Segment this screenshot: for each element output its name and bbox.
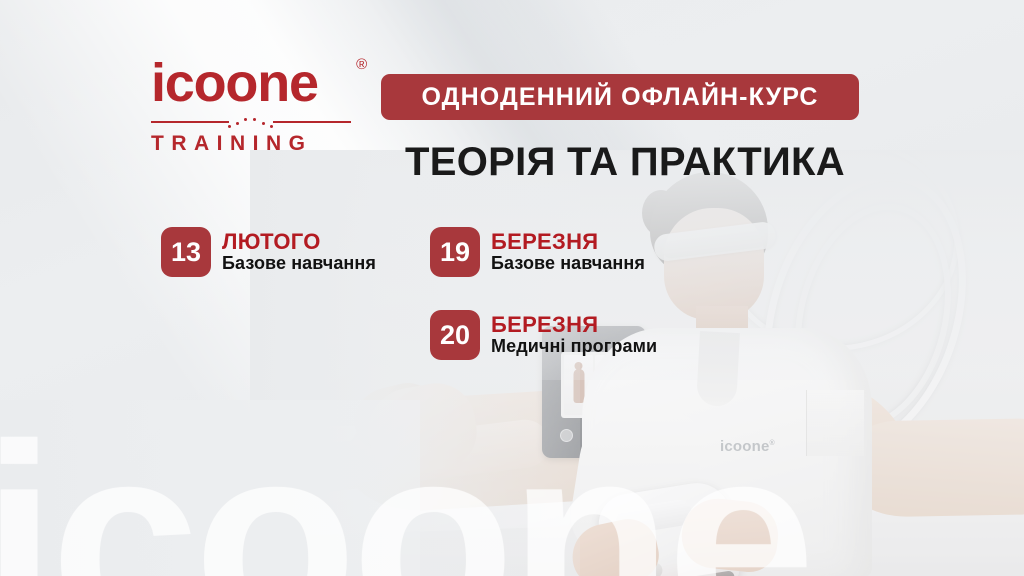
date-month-label: БЕРЕЗНЯ [491,230,645,254]
logo-wordmark: icoone® [151,56,351,110]
date-entry-3: 20 БЕРЕЗНЯ Медичні програми [430,310,657,360]
date-day-badge: 13 [161,227,211,277]
course-type-banner: ОДНОДЕННИЙ ОФЛАЙН-КУРС [381,74,859,120]
logo-wordmark-text: icoone [151,53,318,113]
date-description: Базове навчання [491,254,645,273]
logo-divider-rule [151,117,351,129]
date-details: БЕРЕЗНЯ Базове навчання [491,230,645,273]
date-entry-2: 19 БЕРЕЗНЯ Базове навчання [430,227,645,277]
background-watermark: icoone [0,404,810,576]
date-description: Медичні програми [491,337,657,356]
logo-subtitle: TRAINING [151,132,351,156]
date-details: БЕРЕЗНЯ Медичні програми [491,313,657,356]
date-day-badge: 19 [430,227,480,277]
course-type-label: ОДНОДЕННИЙ ОФЛАЙН-КУРС [421,83,818,112]
logo-dot-ornament-icon [228,117,274,128]
date-details: ЛЮТОГО Базове навчання [222,230,376,273]
date-entry-1: 13 ЛЮТОГО Базове навчання [161,227,376,277]
promo-banner: icoone® icoone icoone® TRAINING [0,0,1024,576]
date-day-badge: 20 [430,310,480,360]
date-month-label: ЛЮТОГО [222,230,376,254]
page-title: ТЕОРІЯ ТА ПРАКТИКА [400,140,850,185]
icoone-training-logo: icoone® TRAINING [151,56,351,156]
date-month-label: БЕРЕЗНЯ [491,313,657,337]
date-description: Базове навчання [222,254,376,273]
registered-trademark-icon: ® [356,57,366,72]
